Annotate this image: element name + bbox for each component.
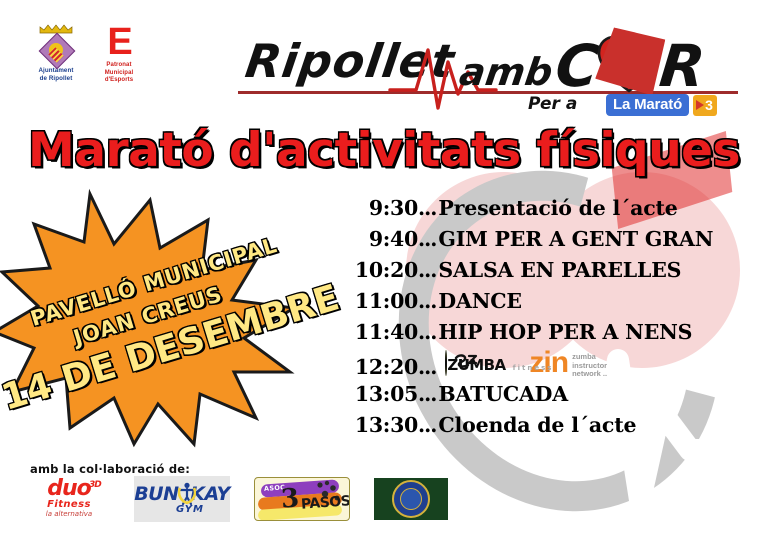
schedule-activity: Presentació de l´acte — [438, 196, 677, 220]
schedule-dots: ... — [418, 382, 438, 406]
zin-tagline: zumba instructor network .. — [572, 350, 607, 379]
page-title: Marató d'activitats físiques — [0, 124, 768, 178]
schedule-dots: ... — [418, 355, 438, 379]
schedule-activity: HIP HOP PER A NENS — [438, 320, 692, 344]
pasos-word-text: PASOS — [301, 493, 350, 512]
brand-letter-r: R — [656, 32, 708, 100]
person-figure-icon — [178, 482, 196, 506]
schedule-time: 9:30 — [338, 196, 418, 220]
schedule-dots: ... — [418, 289, 438, 313]
sponsor-club-emblem-logo — [374, 478, 448, 520]
zumba-fitness-mark: ZUMBA fitness — [445, 351, 523, 383]
zumba-subtitle: fitness — [513, 364, 554, 372]
schedule-row: 10:20 ... SALSA EN PARELLES — [338, 258, 748, 289]
la-marato-label: La Marató — [606, 94, 689, 116]
collaborators-label: amb la col·laboració de: — [30, 462, 190, 476]
bunkay-wordmark: BUNxKAY — [134, 484, 230, 504]
sponsor-bunkay-gym-logo: BUNxKAY GYM — [134, 476, 230, 522]
sponsor-duo-fitness-logo: duo 3D Fitness la alternativa — [28, 476, 110, 522]
duo-wordmark: duo 3D — [47, 479, 91, 499]
emblem-circle-icon — [392, 480, 430, 518]
schedule-row: 9:30 ... Presentació de l´acte — [338, 196, 748, 227]
patronat-caption-line2: Municipal — [91, 70, 147, 78]
duo-word-text: duo — [47, 476, 91, 501]
duo-superscript: 3D — [89, 475, 101, 495]
schedule-row: 11:00 ... DANCE — [338, 289, 748, 320]
schedule-activity: SALSA EN PARELLES — [438, 258, 681, 282]
patronat-caption-line3: d'Esports — [91, 77, 147, 85]
ajuntament-de-ripollet-logo: Ajuntament de Ripollet — [28, 24, 84, 83]
bunkay-word-bun: BUN — [134, 483, 178, 505]
patronat-logo-caption: Patronat Municipal d'Esports — [91, 62, 147, 85]
venue-date-starburst: PAVELLÓ MUNICIPAL JOAN CREUS 14 DE DESEM… — [0, 186, 314, 448]
schedule-activity: GIM PER A GENT GRAN — [438, 227, 713, 251]
institutional-logos: Ajuntament de Ripollet E Patronat Munici… — [28, 24, 150, 86]
schedule-time: 11:00 — [338, 289, 418, 313]
patronat-e-letter-icon: E — [91, 24, 147, 60]
schedule-activity: Cloenda de l´acte — [438, 413, 636, 437]
schedule-activity: BATUCADA — [438, 382, 568, 406]
schedule-dots: ... — [418, 320, 438, 344]
la-marato-tv3-badge: La Marató 3 — [606, 94, 717, 116]
emblem-inner-icon — [400, 488, 422, 510]
pasos-number: 3 — [280, 485, 300, 512]
schedule-row: 13:30 ... Cloenda de l´acte — [338, 413, 748, 444]
ajuntament-caption-line2: de Ripollet — [28, 75, 84, 83]
per-a-label: Per a — [528, 94, 577, 114]
patronat-caption-line1: Patronat — [91, 62, 147, 70]
schedule-time: 10:20 — [338, 258, 418, 282]
schedule-time: 9:40 — [338, 227, 418, 251]
schedule-dots: ... — [418, 196, 438, 220]
heart-pulse-icon — [596, 34, 662, 96]
brand-letter-c: C — [552, 32, 602, 100]
coat-of-arms-icon — [41, 35, 71, 65]
poster-canvas: Ajuntament de Ripollet E Patronat Munici… — [0, 0, 768, 542]
schedule-dots: ... — [418, 413, 438, 437]
sponsor-asoc-3-pasos-logo: ASOC. 3 PASOS — [254, 477, 350, 521]
schedule-row: 13:05 ... BATUCADA — [338, 382, 748, 413]
sponsor-logos: duo 3D Fitness la alternativa BUNxKAY GY… — [28, 476, 448, 522]
tv3-number: 3 — [705, 97, 713, 113]
schedule-time: 12:20 — [338, 355, 418, 379]
tv3-triangle-icon — [696, 100, 704, 110]
schedule-list: 9:30 ... Presentació de l´acte 9:40 ... … — [338, 196, 748, 444]
schedule-activity: DANCE — [438, 289, 521, 313]
schedule-dots: ... — [418, 227, 438, 251]
tv3-logo: 3 — [693, 95, 717, 116]
brand-word-amb: amb — [457, 50, 556, 94]
duo-tagline: la alternativa — [46, 510, 92, 519]
schedule-row: 12:20 ... ZUMBA fitness zin z — [338, 351, 748, 382]
zumba-logo: ZUMBA fitness zin zumba instructor netwo… — [445, 350, 607, 383]
schedule-time: 13:05 — [338, 382, 418, 406]
schedule-time: 13:30 — [338, 413, 418, 437]
schedule-row: 9:40 ... GIM PER A GENT GRAN — [338, 227, 748, 258]
ripollet-amb-cor-wordmark: Ripollet amb C R Per a La Marató 3 — [238, 28, 738, 124]
schedule-dots: ... — [418, 258, 438, 282]
bunkay-word-kay: KAY — [190, 483, 230, 505]
zin-tagline-line3: network .. — [572, 370, 607, 379]
schedule-time: 11:40 — [338, 320, 418, 344]
per-a-text: Per a — [528, 94, 577, 114]
patronat-municipal-desports-logo: E Patronat Municipal d'Esports — [91, 24, 147, 85]
